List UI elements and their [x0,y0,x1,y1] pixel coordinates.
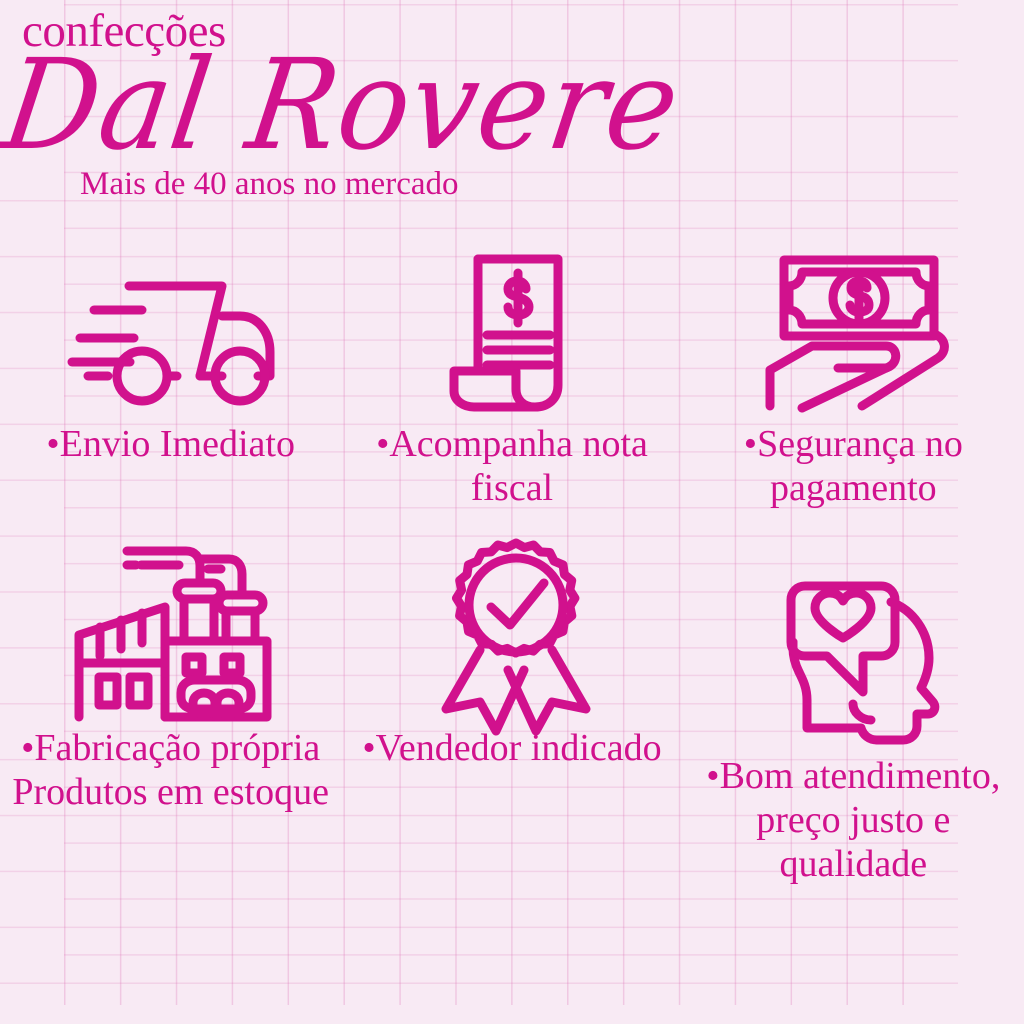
feature-item-envio-imediato: •Envio Imediato [0,248,341,510]
invoice-dollar-icon [434,248,590,418]
feature-label: •Bom atendimento, preço justo e qualidad… [698,754,1008,886]
feature-label: •Vendedor indicado [342,726,682,770]
feature-row-1: •Envio Imediato •Acompanha nota fiscal [0,248,1024,510]
brand-header: confecções Dal Rovere Mais de 40 anos no… [0,0,1024,215]
feature-label: •Acompanha nota fiscal [353,422,671,510]
award-badge-check-icon [428,552,596,722]
feature-item-bom-atendimento: •Bom atendimento, preço justo e qualidad… [683,552,1024,886]
feature-label: •Fabricação própria Produtos em estoque [0,726,343,814]
feature-item-nota-fiscal: •Acompanha nota fiscal [341,248,682,510]
feature-item-fabricacao-propria: •Fabricação própria Produtos em estoque [0,552,341,886]
brand-tagline: Mais de 40 anos no mercado [80,168,459,201]
feature-item-seguranca-pagamento: •Segurança no pagamento [683,248,1024,510]
money-in-hand-icon [746,248,961,418]
delivery-truck-icon [60,248,282,418]
feature-row-2: •Fabricação própria Produtos em estoque … [0,552,1024,886]
head-heart-speech-icon [751,552,956,750]
brand-name: Dal Rovere [0,42,687,167]
promo-graphic: confecções Dal Rovere Mais de 40 anos no… [0,0,1024,1024]
feature-label: •Segurança no pagamento [703,422,1003,510]
feature-item-vendedor-indicado: •Vendedor indicado [341,552,682,886]
factory-icon [63,552,279,722]
feature-label: •Envio Imediato [1,422,341,466]
